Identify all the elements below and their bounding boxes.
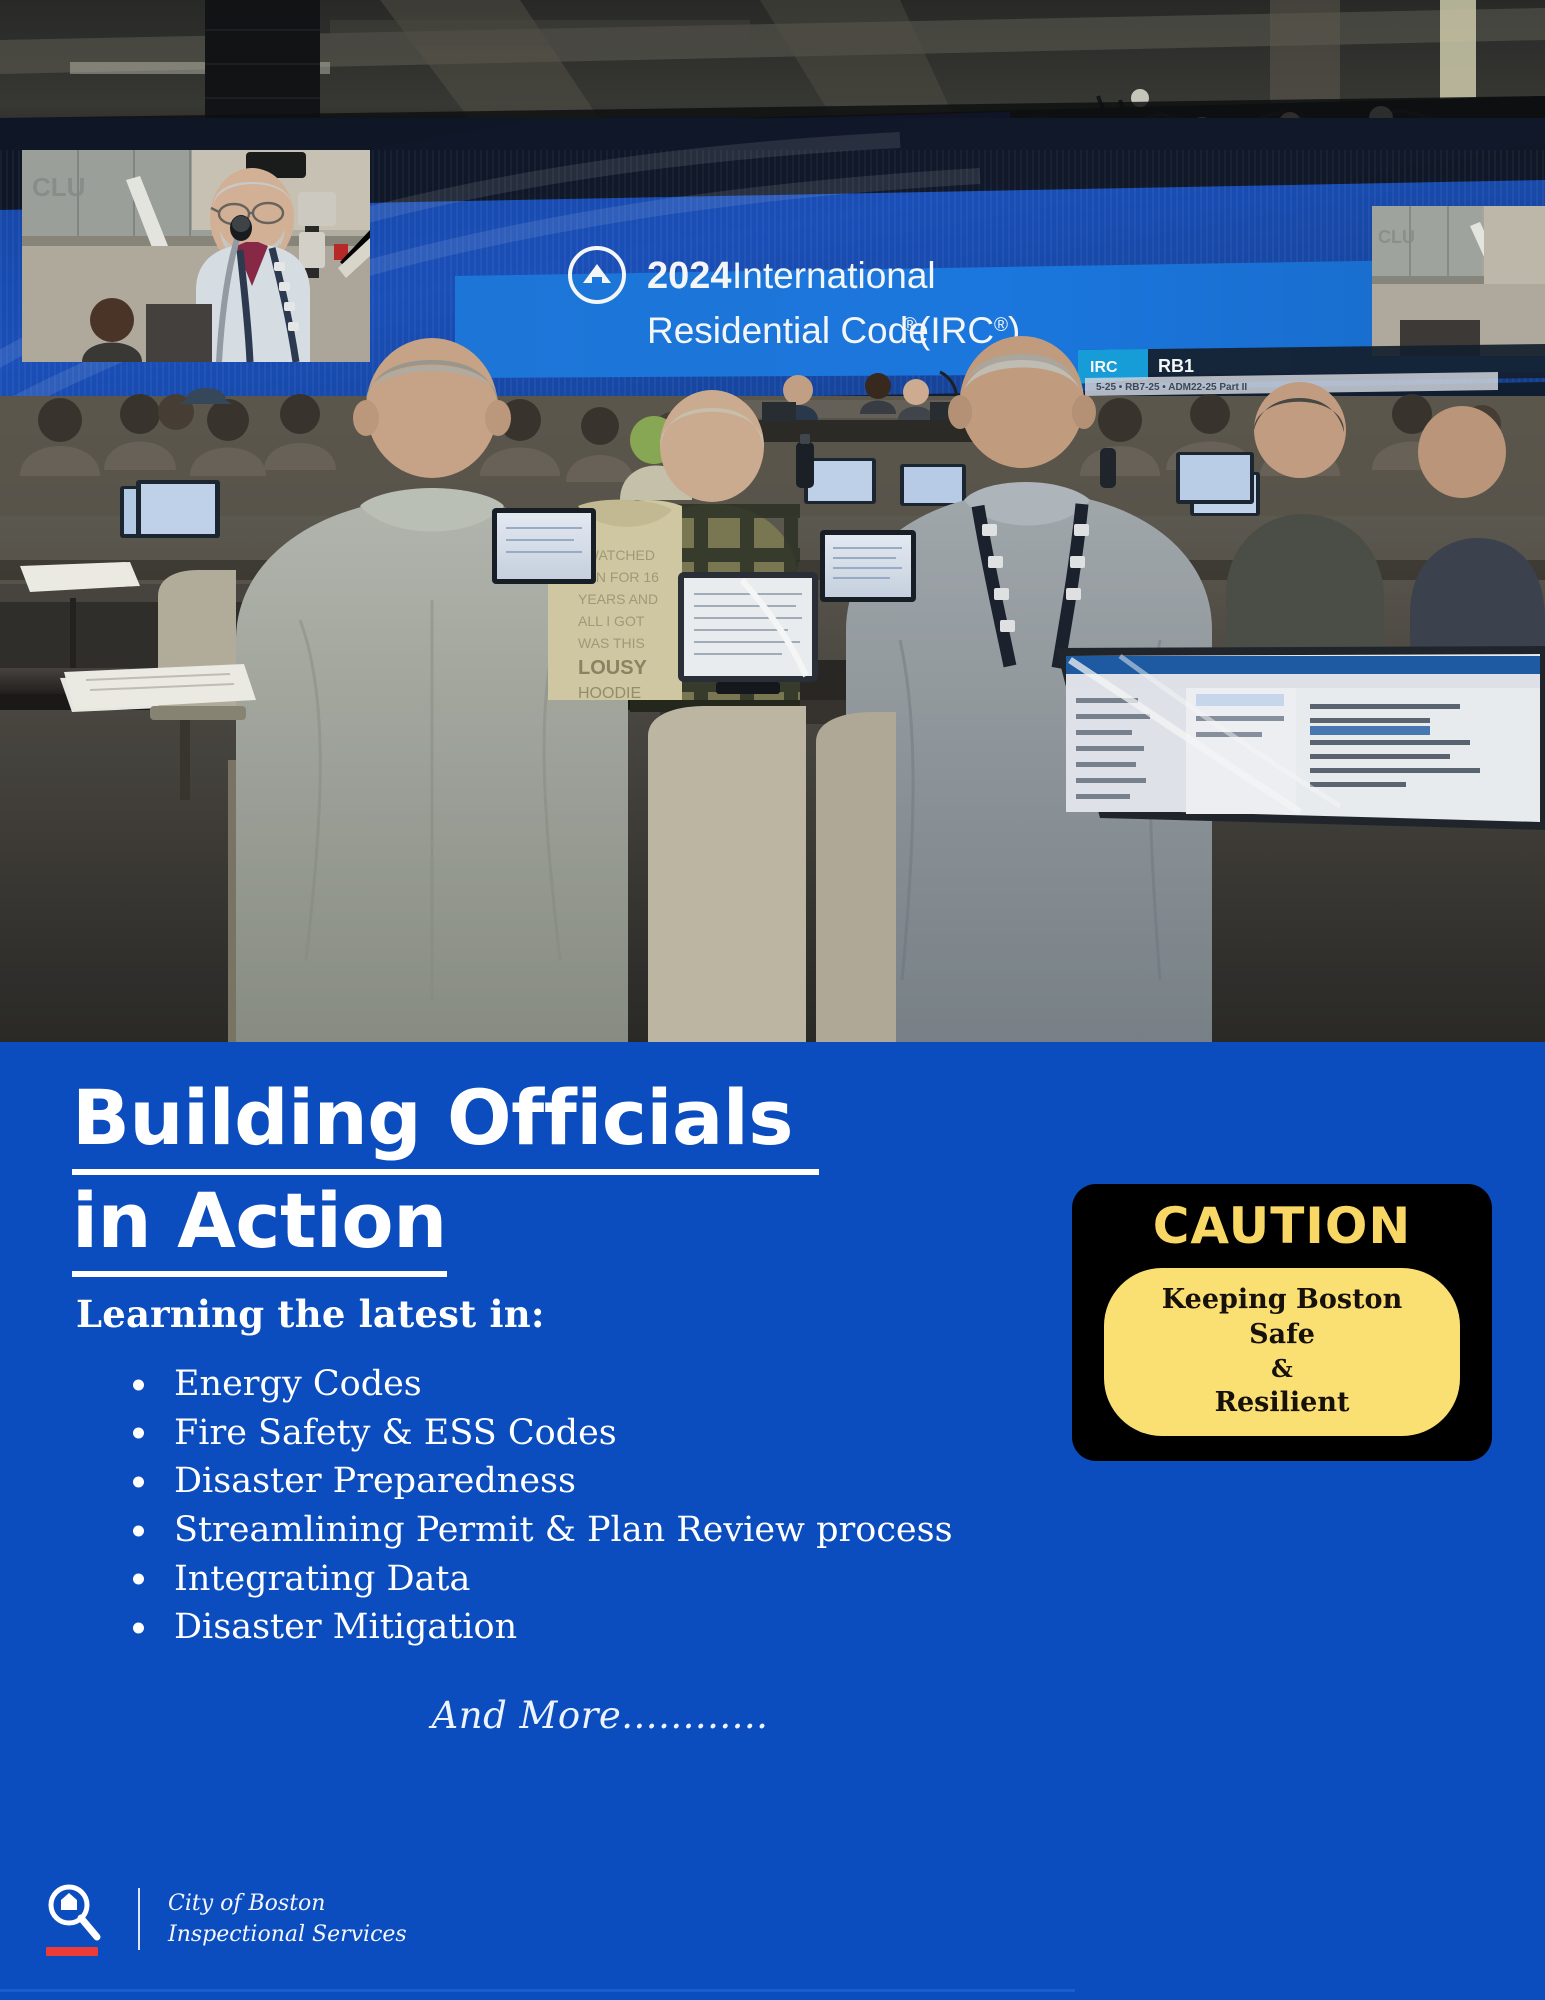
list-item: Disaster Preparedness	[124, 1461, 1084, 1503]
conference-photo-illustration: 2024 International Residential Code ® (I…	[0, 0, 1545, 1042]
bullet-icon	[133, 1428, 144, 1439]
organization-name: City of Boston Inspectional Services	[168, 1888, 407, 1950]
bullet-icon	[133, 1525, 144, 1536]
caution-line-4: Resilient	[1215, 1385, 1350, 1421]
list-item: Disaster Mitigation	[124, 1607, 1084, 1649]
conference-photo: 2024 International Residential Code ® (I…	[0, 0, 1545, 1042]
list-item-label: Streamlining Permit & Plan Review proces…	[174, 1510, 953, 1550]
bullet-icon	[133, 1477, 144, 1488]
inspectional-services-logo-icon	[44, 1882, 106, 1956]
list-item-label: Integrating Data	[174, 1559, 470, 1599]
info-panel: Building Officials in Action Learning th…	[0, 1042, 1545, 2000]
bullet-icon	[133, 1379, 144, 1390]
caution-card: CAUTION Keeping Boston Safe & Resilient	[1072, 1184, 1492, 1461]
bullet-icon	[133, 1623, 144, 1634]
list-item-label: Fire Safety & ESS Codes	[174, 1413, 617, 1453]
list-item-label: Disaster Mitigation	[174, 1607, 517, 1647]
list-item: Energy Codes	[124, 1364, 1084, 1406]
magnifier-house-icon	[44, 1882, 106, 1956]
list-item: Streamlining Permit & Plan Review proces…	[124, 1510, 1084, 1552]
and-more-text: And More............	[0, 1694, 1200, 1737]
org-line-2: Inspectional Services	[168, 1919, 407, 1950]
panel-bottom-hairline	[0, 1989, 1075, 1992]
bullet-icon	[133, 1574, 144, 1585]
footer-logo-lockup: City of Boston Inspectional Services	[44, 1882, 407, 1956]
topics-list: Energy Codes Fire Safety & ESS Codes Dis…	[124, 1364, 1084, 1656]
list-item: Fire Safety & ESS Codes	[124, 1413, 1084, 1455]
caution-line-2: Safe	[1249, 1317, 1315, 1353]
logo-accent-bar	[46, 1947, 98, 1956]
org-line-1: City of Boston	[168, 1888, 407, 1919]
poster-root: 2024 International Residential Code ® (I…	[0, 0, 1545, 2000]
list-item-label: Disaster Preparedness	[174, 1461, 576, 1501]
caution-title: CAUTION	[1072, 1201, 1492, 1251]
page-title-line-1: Building Officials	[72, 1072, 819, 1175]
logo-divider	[138, 1888, 140, 1950]
caution-message-pill: Keeping Boston Safe & Resilient	[1104, 1268, 1460, 1436]
page-title-line-2: in Action	[72, 1175, 447, 1278]
caution-line-1: Keeping Boston	[1162, 1282, 1402, 1318]
caution-line-3: &	[1271, 1353, 1293, 1384]
subheading: Learning the latest in:	[76, 1292, 545, 1336]
list-item-label: Energy Codes	[174, 1364, 422, 1404]
page-title: Building Officials in Action	[72, 1072, 992, 1277]
list-item: Integrating Data	[124, 1559, 1084, 1601]
